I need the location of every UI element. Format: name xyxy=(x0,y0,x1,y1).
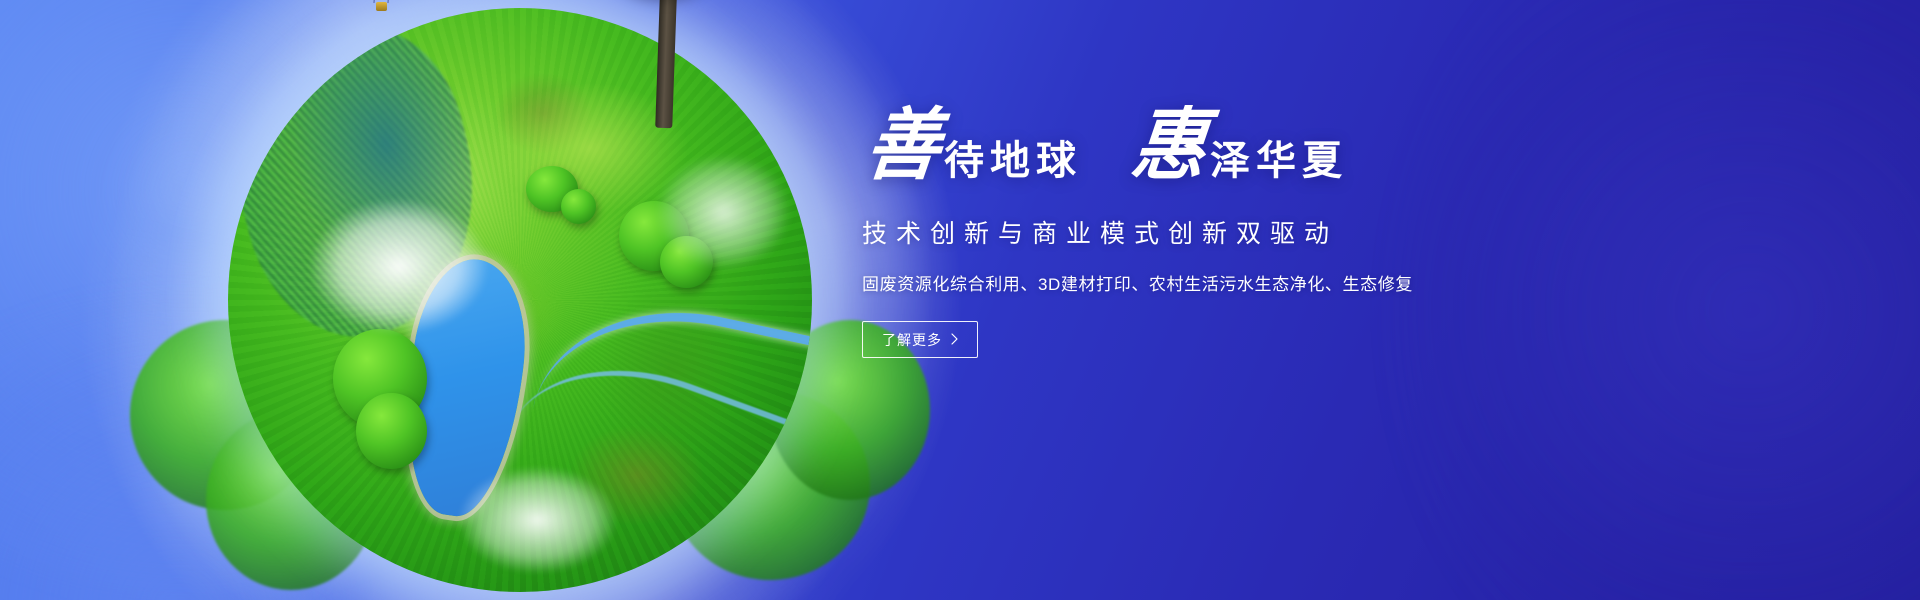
subtitle: 技术创新与商业模式创新双驱动 xyxy=(862,214,1662,250)
headline-zehuaxia: 泽华夏 xyxy=(1204,141,1348,186)
headline-daidiqiu: 待地球 xyxy=(938,141,1082,186)
tiny-planet-image xyxy=(110,0,930,600)
hero-copy: 善 待地球 惠 泽华夏 技术创新与商业模式创新双驱动 固废资源化综合利用、3D建… xyxy=(862,112,1662,358)
chevron-right-icon xyxy=(951,332,958,348)
large-tree xyxy=(540,0,790,116)
tree-cluster xyxy=(356,393,426,469)
description: 固废资源化综合利用、3D建材打印、农村生活污水生态净化、生态修复 xyxy=(862,270,1662,295)
learn-more-label: 了解更多 xyxy=(882,330,942,350)
cloud-patch xyxy=(648,136,812,288)
learn-more-button[interactable]: 了解更多 xyxy=(862,321,978,358)
tree-cluster xyxy=(561,189,596,224)
hero-banner: 善 待地球 惠 泽华夏 技术创新与商业模式创新双驱动 固废资源化综合利用、3D建… xyxy=(0,0,1920,600)
cloud-patch xyxy=(310,183,532,382)
headline-char-shan: 善 xyxy=(862,108,946,186)
headline-char-hui: 惠 xyxy=(1128,108,1212,186)
balloon-basket xyxy=(376,2,387,11)
cloud-patch xyxy=(438,464,637,592)
tree-trunk xyxy=(655,0,678,128)
hot-air-balloon-icon xyxy=(356,0,412,18)
headline: 善 待地球 惠 泽华夏 xyxy=(862,112,1662,186)
